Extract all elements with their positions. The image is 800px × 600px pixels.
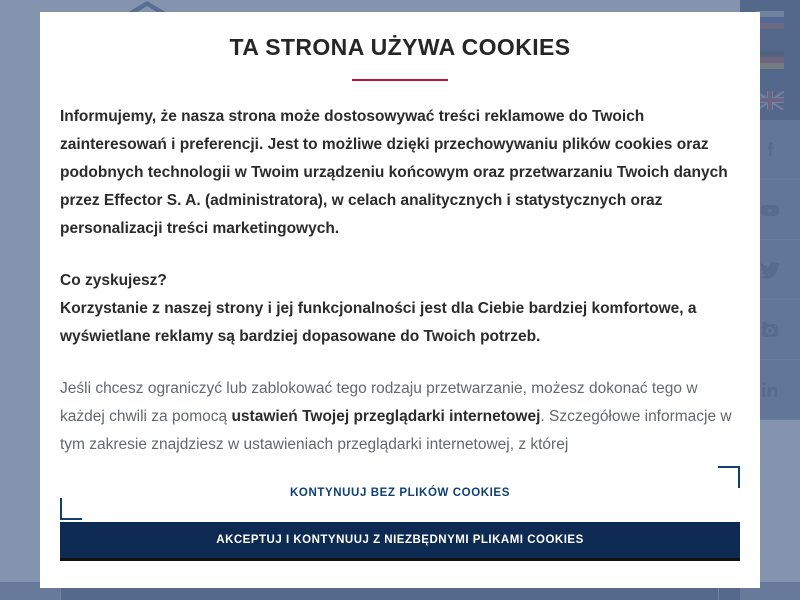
modal-footer-strip — [40, 572, 760, 588]
browser-settings-emphasis: ustawień Twojej przeglądarki internetowe… — [231, 408, 540, 425]
modal-actions: KONTYNUUJ BEZ PLIKÓW COOKIES AKCEPTUJ I … — [40, 472, 760, 572]
continue-without-cookies-label: KONTYNUUJ BEZ PLIKÓW COOKIES — [290, 487, 510, 499]
corner-bracket-bottom-left-icon — [60, 498, 82, 520]
consent-paragraph-1: Informujemy, że nasza strona może dostos… — [60, 103, 740, 243]
consent-paragraph-3: Jeśli chcesz ograniczyć lub zablokować t… — [60, 375, 740, 459]
title-divider — [352, 79, 448, 81]
consent-paragraph-2-heading: Co zyskujesz? — [60, 267, 740, 295]
continue-without-cookies-button[interactable]: KONTYNUUJ BEZ PLIKÓW COOKIES — [60, 472, 740, 514]
modal-body: Informujemy, że nasza strona może dostos… — [40, 103, 760, 473]
accept-essential-cookies-button[interactable]: AKCEPTUJ I KONTYNUUJ Z NIEZBĘDNYMI PLIKA… — [60, 522, 740, 558]
cookie-consent-modal: TA STRONA UŻYWA COOKIES Informujemy, że … — [40, 12, 760, 588]
page-title: TA STRONA UŻYWA COOKIES — [40, 34, 760, 61]
consent-paragraph-2-body: Korzystanie z naszej strony i jej funkcj… — [60, 295, 740, 351]
